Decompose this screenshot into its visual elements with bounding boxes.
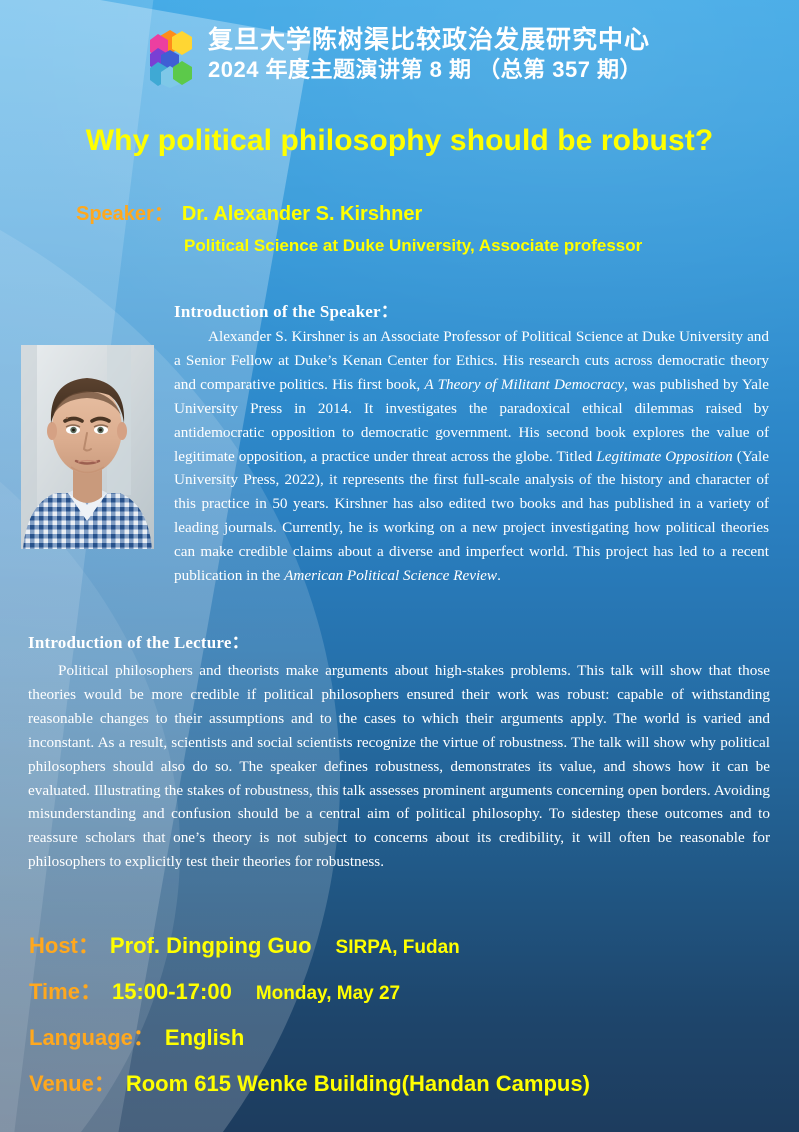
- lecture-poster: 复旦大学陈树渠比较政治发展研究中心 2024 年度主题演讲第 8 期 （总第 3…: [0, 0, 799, 1132]
- header-text-group: 复旦大学陈树渠比较政治发展研究中心 2024 年度主题演讲第 8 期 （总第 3…: [208, 26, 650, 83]
- speaker-name: Dr. Alexander S. Kirshner: [182, 203, 422, 225]
- detail-row-venue: Venue： Room 615 Wenke Building(Handan Ca…: [29, 1066, 590, 1098]
- host-affiliation: SIRPA, Fudan: [336, 937, 460, 959]
- lecture-abstract: Political philosophers and theorists mak…: [28, 659, 770, 874]
- bio-part-4: .: [497, 567, 501, 584]
- time-date: Monday, May 27: [256, 983, 400, 1005]
- center-name-line: 复旦大学陈树渠比较政治发展研究中心: [208, 26, 650, 54]
- speaker-affiliation: Political Science at Duke University, As…: [184, 236, 642, 256]
- venue-value: Room 615 Wenke Building(Handan Campus): [126, 1071, 590, 1097]
- poster-header: 复旦大学陈树渠比较政治发展研究中心 2024 年度主题演讲第 8 期 （总第 3…: [150, 26, 650, 88]
- series-number-line: 2024 年度主题演讲第 8 期 （总第 357 期）: [208, 58, 650, 83]
- speaker-line: Speaker：Dr. Alexander S. Kirshner: [76, 197, 422, 226]
- venue-label: Venue：: [29, 1066, 116, 1098]
- host-value: Prof. Dingping Guo: [110, 933, 312, 959]
- fudan-c-cube-logo-icon: [150, 28, 194, 88]
- language-label: Language：: [29, 1020, 155, 1052]
- page-title: Why political philosophy should be robus…: [0, 124, 799, 158]
- event-details: Host： Prof. Dingping Guo SIRPA, Fudan Ti…: [29, 928, 590, 1098]
- bio-part-3: (Yale University Press, 2022), it repres…: [174, 448, 769, 585]
- detail-row-host: Host： Prof. Dingping Guo SIRPA, Fudan: [29, 928, 590, 960]
- speaker-bio: Alexander S. Kirshner is an Associate Pr…: [174, 325, 769, 588]
- poster-content: 复旦大学陈树渠比较政治发展研究中心 2024 年度主题演讲第 8 期 （总第 3…: [0, 0, 799, 1132]
- detail-row-language: Language： English: [29, 1020, 590, 1052]
- host-label: Host：: [29, 928, 100, 960]
- time-value: 15:00-17:00: [112, 979, 232, 1005]
- language-value: English: [165, 1025, 244, 1051]
- detail-row-time: Time： 15:00-17:00 Monday, May 27: [29, 974, 590, 1006]
- bio-book-title-1: A Theory of Militant Democracy: [424, 376, 624, 393]
- time-label: Time：: [29, 974, 102, 1006]
- bio-book-title-2: Legitimate Opposition: [596, 448, 732, 465]
- lecture-intro-heading: Introduction of the Lecture：: [28, 628, 249, 653]
- avatar: [21, 345, 154, 549]
- speaker-intro-heading: Introduction of the Speaker：: [174, 297, 398, 322]
- speaker-label: Speaker：: [76, 203, 174, 225]
- bio-journal-title: American Political Science Review: [284, 567, 497, 584]
